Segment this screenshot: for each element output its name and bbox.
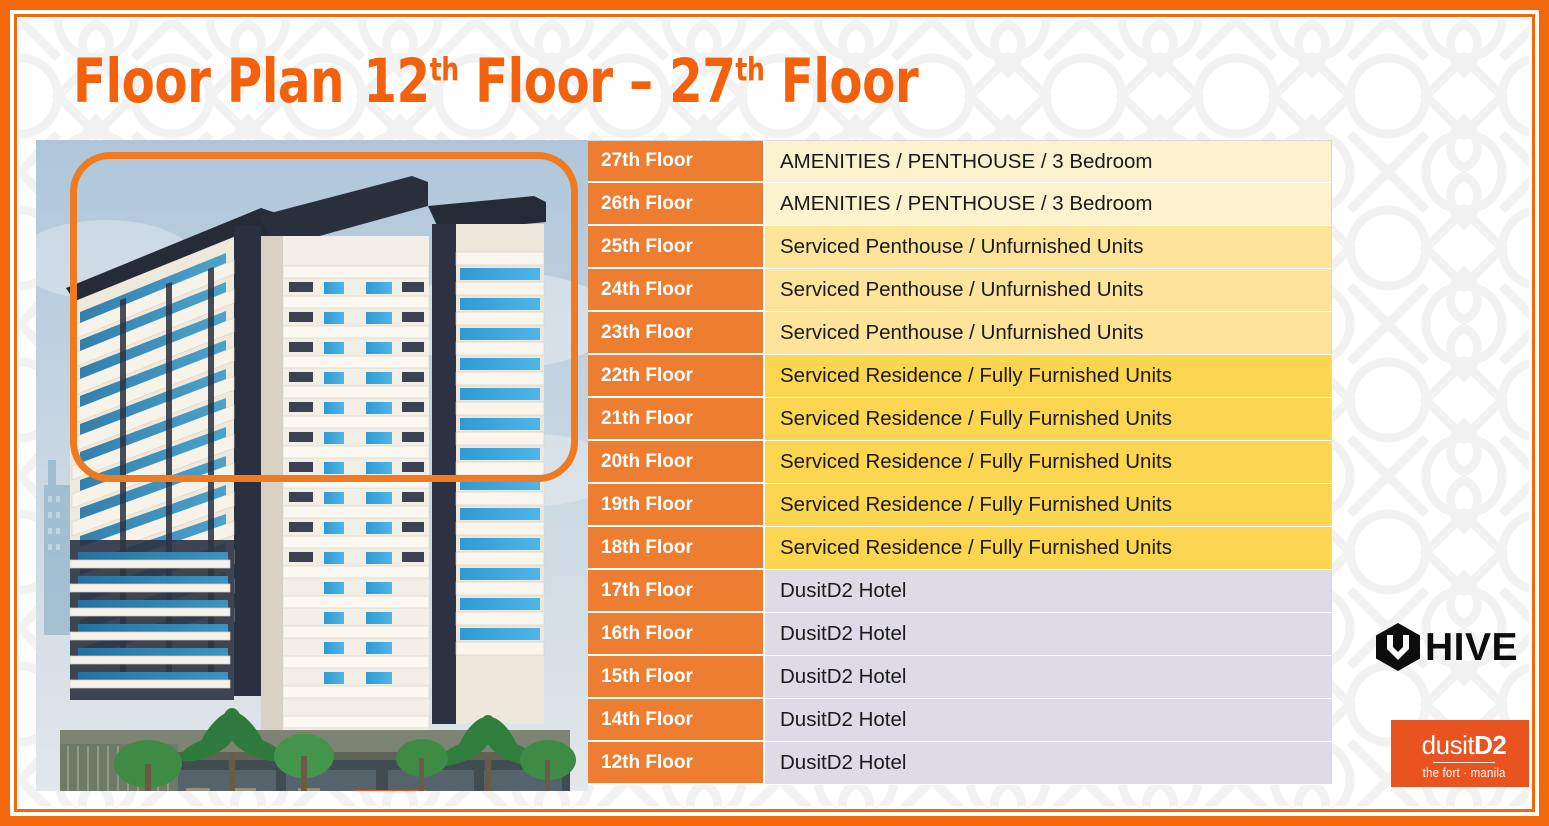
hive-wordmark: HIVE (1425, 628, 1518, 667)
floor-plan-table-body: 27th FloorAMENITIES / PENTHOUSE / 3 Bedr… (588, 140, 1332, 785)
title-dash: – (629, 46, 653, 117)
floor-label-cell: 23th Floor (588, 312, 765, 355)
floor-description-cell: DusitD2 Hotel (765, 656, 1332, 699)
floor-description-cell: DusitD2 Hotel (765, 570, 1332, 613)
floor-label-cell: 17th Floor (588, 570, 765, 613)
dusitd2-divider (1433, 762, 1495, 763)
floor-description-cell: AMENITIES / PENTHOUSE / 3 Bedroom (765, 183, 1332, 226)
table-row: 19th FloorServiced Residence / Fully Fur… (588, 484, 1332, 527)
floor-label-cell: 15th Floor (588, 656, 765, 699)
title-floor-word-one: Floor (475, 46, 613, 117)
table-row: 27th FloorAMENITIES / PENTHOUSE / 3 Bedr… (588, 140, 1332, 183)
floor-description-cell: Serviced Penthouse / Unfurnished Units (765, 269, 1332, 312)
floor-label-cell: 16th Floor (588, 613, 765, 656)
floor-description-cell: Serviced Penthouse / Unfurnished Units (765, 312, 1332, 355)
dusitd2-tagline: the fort · manila (1422, 766, 1505, 780)
slide-canvas: Floor Plan12th Floor – 27th Floor (20, 20, 1529, 806)
floor-description-cell: Serviced Residence / Fully Furnished Uni… (765, 484, 1332, 527)
floor-label-cell: 20th Floor (588, 441, 765, 484)
dusitd2-wordmark-light: dusit (1422, 730, 1474, 760)
table-row: 23th FloorServiced Penthouse / Unfurnish… (588, 312, 1332, 355)
title-to-ordinal-suffix: th (735, 53, 764, 89)
dusitd2-wordmark: dusitD2 (1422, 732, 1507, 758)
floor-description-cell: Serviced Residence / Fully Furnished Uni… (765, 441, 1332, 484)
floor-label-cell: 26th Floor (588, 183, 765, 226)
floor-description-cell: DusitD2 Hotel (765, 613, 1332, 656)
floor-description-cell: DusitD2 Hotel (765, 742, 1332, 785)
floor-label-cell: 21th Floor (588, 398, 765, 441)
table-row: 14th FloorDusitD2 Hotel (588, 699, 1332, 742)
title-main-text: Floor Plan (73, 46, 344, 117)
floor-label-cell: 24th Floor (588, 269, 765, 312)
building-photo-illustration (36, 140, 588, 791)
dusitd2-wordmark-heavy: D2 (1474, 730, 1506, 760)
table-row: 17th FloorDusitD2 Hotel (588, 570, 1332, 613)
table-row: 21th FloorServiced Residence / Fully Fur… (588, 398, 1332, 441)
table-row: 12th FloorDusitD2 Hotel (588, 742, 1332, 785)
floor-description-cell: Serviced Residence / Fully Furnished Uni… (765, 527, 1332, 570)
table-row: 26th FloorAMENITIES / PENTHOUSE / 3 Bedr… (588, 183, 1332, 226)
table-row: 20th FloorServiced Residence / Fully Fur… (588, 441, 1332, 484)
floor-plan-table: 27th FloorAMENITIES / PENTHOUSE / 3 Bedr… (588, 140, 1332, 785)
title-to-number: 27 (669, 46, 735, 117)
dusitd2-logo: dusitD2 the fort · manila (1391, 720, 1529, 787)
table-row: 24th FloorServiced Penthouse / Unfurnish… (588, 269, 1332, 312)
floor-label-cell: 14th Floor (588, 699, 765, 742)
table-row: 15th FloorDusitD2 Hotel (588, 656, 1332, 699)
table-row: 22th FloorServiced Residence / Fully Fur… (588, 355, 1332, 398)
title-floor-word-two: Floor (781, 46, 919, 117)
title-from-ordinal-suffix: th (430, 53, 459, 89)
floor-label-cell: 22th Floor (588, 355, 765, 398)
floor-label-cell: 25th Floor (588, 226, 765, 269)
table-row: 25th FloorServiced Penthouse / Unfurnish… (588, 226, 1332, 269)
page-title: Floor Plan12th Floor – 27th Floor (73, 50, 918, 114)
table-row: 16th FloorDusitD2 Hotel (588, 613, 1332, 656)
hive-logo: HIVE (1374, 620, 1529, 674)
table-row: 18th FloorServiced Residence / Fully Fur… (588, 527, 1332, 570)
floor-description-cell: Serviced Residence / Fully Furnished Uni… (765, 355, 1332, 398)
floor-description-cell: Serviced Residence / Fully Furnished Uni… (765, 398, 1332, 441)
building-photo (36, 140, 588, 791)
floor-description-cell: DusitD2 Hotel (765, 699, 1332, 742)
floor-description-cell: AMENITIES / PENTHOUSE / 3 Bedroom (765, 140, 1332, 183)
floor-label-cell: 27th Floor (588, 140, 765, 183)
floor-description-cell: Serviced Penthouse / Unfurnished Units (765, 226, 1332, 269)
title-from-number: 12 (363, 46, 429, 117)
floor-label-cell: 18th Floor (588, 527, 765, 570)
slide-outer-frame: Floor Plan12th Floor – 27th Floor (0, 0, 1549, 826)
floor-label-cell: 12th Floor (588, 742, 765, 785)
floor-label-cell: 19th Floor (588, 484, 765, 527)
hive-hexagon-icon (1374, 622, 1422, 672)
